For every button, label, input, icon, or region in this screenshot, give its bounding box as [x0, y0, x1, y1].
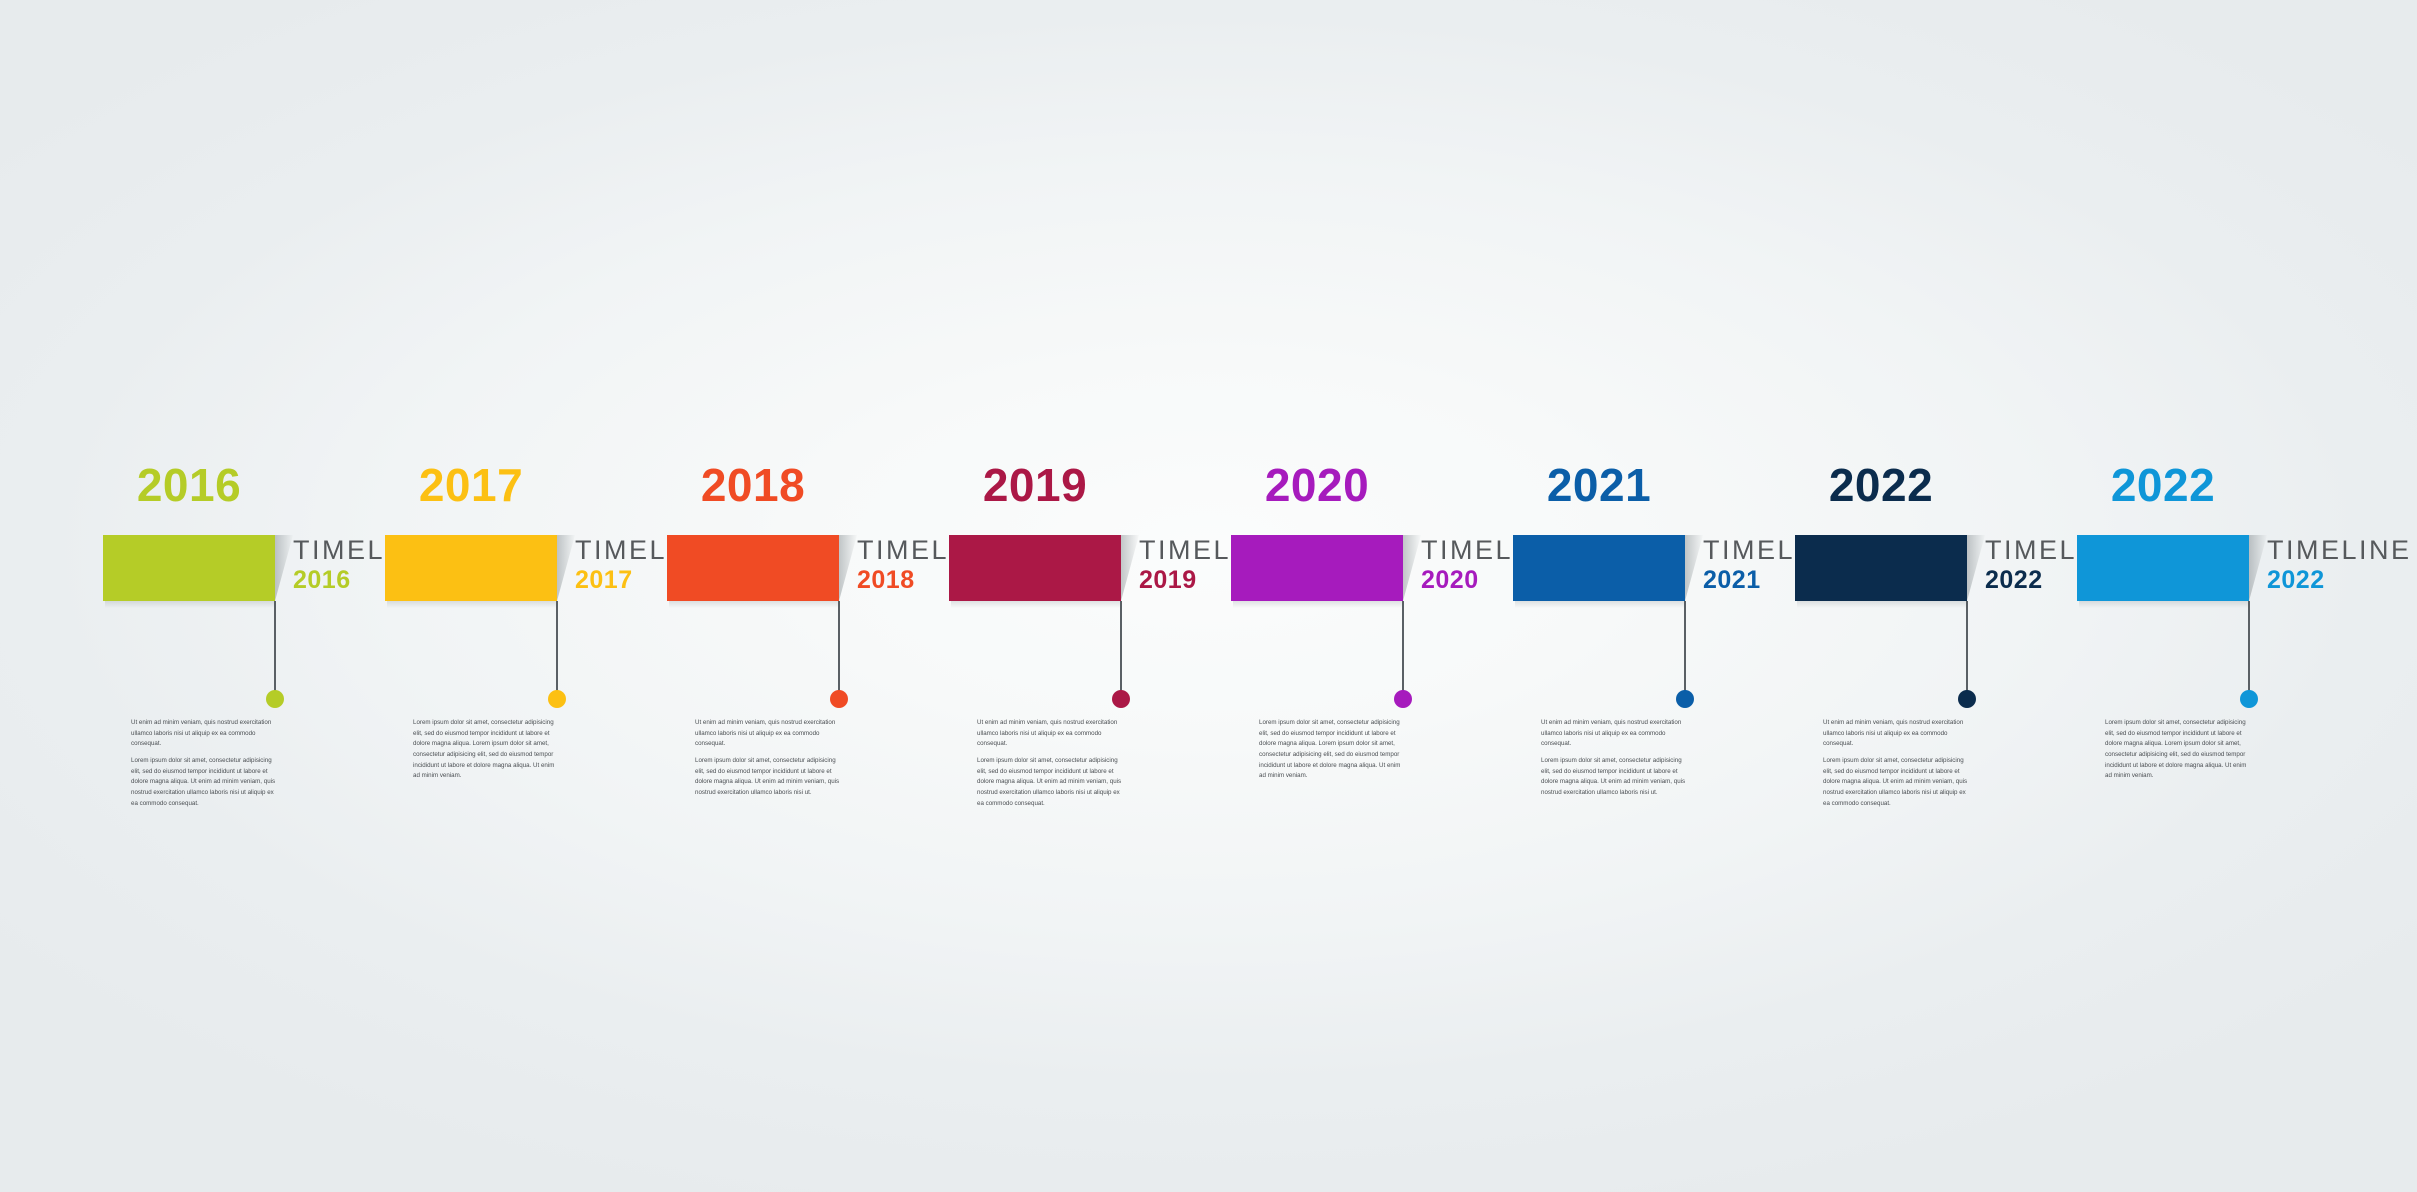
connector-dot[interactable]: [1394, 690, 1412, 708]
color-bar-fill: [385, 535, 557, 601]
bar-drop-shadow: [1797, 601, 1967, 608]
bar-drop-shadow: [1233, 601, 1403, 608]
bar-fold-shadow: [2249, 535, 2267, 601]
step-color-bar[interactable]: [667, 535, 839, 601]
connector-dot[interactable]: [2240, 690, 2258, 708]
description-paragraph: Lorem ipsum dolor sit amet, consectetur …: [1259, 718, 1407, 782]
color-bar-fill: [949, 535, 1121, 601]
connector-dot[interactable]: [1676, 690, 1694, 708]
step-description: Lorem ipsum dolor sit amet, consectetur …: [1259, 718, 1407, 782]
description-paragraph: Ut enim ad minim veniam, quis nostrud ex…: [131, 718, 279, 750]
description-paragraph: Lorem ipsum dolor sit amet, consectetur …: [695, 756, 843, 799]
step-description: Lorem ipsum dolor sit amet, consectetur …: [2105, 718, 2253, 782]
step-year-heading: 2016: [103, 462, 275, 508]
description-paragraph: Ut enim ad minim veniam, quis nostrud ex…: [977, 718, 1125, 750]
bar-fold-shadow: [839, 535, 857, 601]
timeline-label: TIMELINE: [2267, 536, 2417, 564]
bar-drop-shadow: [669, 601, 839, 608]
connector-line: [1120, 601, 1122, 698]
connector-dot[interactable]: [830, 690, 848, 708]
connector-line: [2248, 601, 2250, 698]
step-color-bar[interactable]: [1795, 535, 1967, 601]
connector-dot[interactable]: [1112, 690, 1130, 708]
step-color-bar[interactable]: [385, 535, 557, 601]
description-paragraph: Lorem ipsum dolor sit amet, consectetur …: [131, 756, 279, 809]
step-2022-blue[interactable]: 2022TIMELINE2022Lorem ipsum dolor sit am…: [2077, 0, 2417, 1192]
description-paragraph: Lorem ipsum dolor sit amet, consectetur …: [413, 718, 561, 782]
timeline-infographic: 2016TIMELINE2016Ut enim ad minim veniam,…: [0, 0, 2417, 1192]
color-bar-fill: [103, 535, 275, 601]
step-color-bar[interactable]: [103, 535, 275, 601]
bar-fold-shadow: [275, 535, 293, 601]
description-paragraph: Lorem ipsum dolor sit amet, consectetur …: [2105, 718, 2253, 782]
timeline-label-year: 2022: [2267, 568, 2417, 593]
step-description: Ut enim ad minim veniam, quis nostrud ex…: [977, 718, 1125, 809]
bar-drop-shadow: [1515, 601, 1685, 608]
step-color-bar[interactable]: [949, 535, 1121, 601]
bar-drop-shadow: [951, 601, 1121, 608]
connector-line: [1684, 601, 1686, 698]
connector-line: [1966, 601, 1968, 698]
description-paragraph: Ut enim ad minim veniam, quis nostrud ex…: [1541, 718, 1689, 750]
step-year-heading: 2022: [2077, 462, 2249, 508]
color-bar-fill: [1795, 535, 1967, 601]
bar-drop-shadow: [2079, 601, 2249, 608]
connector-line: [556, 601, 558, 698]
step-color-bar[interactable]: [2077, 535, 2249, 601]
bar-fold-shadow: [557, 535, 575, 601]
connector-dot[interactable]: [1958, 690, 1976, 708]
bar-drop-shadow: [387, 601, 557, 608]
step-year-heading: 2017: [385, 462, 557, 508]
step-description: Ut enim ad minim veniam, quis nostrud ex…: [1823, 718, 1971, 809]
connector-dot[interactable]: [266, 690, 284, 708]
color-bar-fill: [667, 535, 839, 601]
step-label-block: TIMELINE2022: [2267, 536, 2417, 593]
bar-fold-shadow: [1121, 535, 1139, 601]
step-year-heading: 2018: [667, 462, 839, 508]
step-year-heading: 2020: [1231, 462, 1403, 508]
bar-fold-shadow: [1403, 535, 1421, 601]
color-bar-fill: [1513, 535, 1685, 601]
description-paragraph: Ut enim ad minim veniam, quis nostrud ex…: [695, 718, 843, 750]
color-bar-fill: [2077, 535, 2249, 601]
description-paragraph: Lorem ipsum dolor sit amet, consectetur …: [1823, 756, 1971, 809]
step-year-heading: 2021: [1513, 462, 1685, 508]
description-paragraph: Lorem ipsum dolor sit amet, consectetur …: [1541, 756, 1689, 799]
connector-line: [1402, 601, 1404, 698]
step-year-heading: 2019: [949, 462, 1121, 508]
step-description: Lorem ipsum dolor sit amet, consectetur …: [413, 718, 561, 782]
step-year-heading: 2022: [1795, 462, 1967, 508]
bar-fold-shadow: [1967, 535, 1985, 601]
description-paragraph: Ut enim ad minim veniam, quis nostrud ex…: [1823, 718, 1971, 750]
step-description: Ut enim ad minim veniam, quis nostrud ex…: [1541, 718, 1689, 799]
connector-dot[interactable]: [548, 690, 566, 708]
step-description: Ut enim ad minim veniam, quis nostrud ex…: [695, 718, 843, 799]
step-description: Ut enim ad minim veniam, quis nostrud ex…: [131, 718, 279, 809]
description-paragraph: Lorem ipsum dolor sit amet, consectetur …: [977, 756, 1125, 809]
step-color-bar[interactable]: [1231, 535, 1403, 601]
bar-fold-shadow: [1685, 535, 1703, 601]
step-color-bar[interactable]: [1513, 535, 1685, 601]
color-bar-fill: [1231, 535, 1403, 601]
bar-drop-shadow: [105, 601, 275, 608]
connector-line: [274, 601, 276, 698]
connector-line: [838, 601, 840, 698]
